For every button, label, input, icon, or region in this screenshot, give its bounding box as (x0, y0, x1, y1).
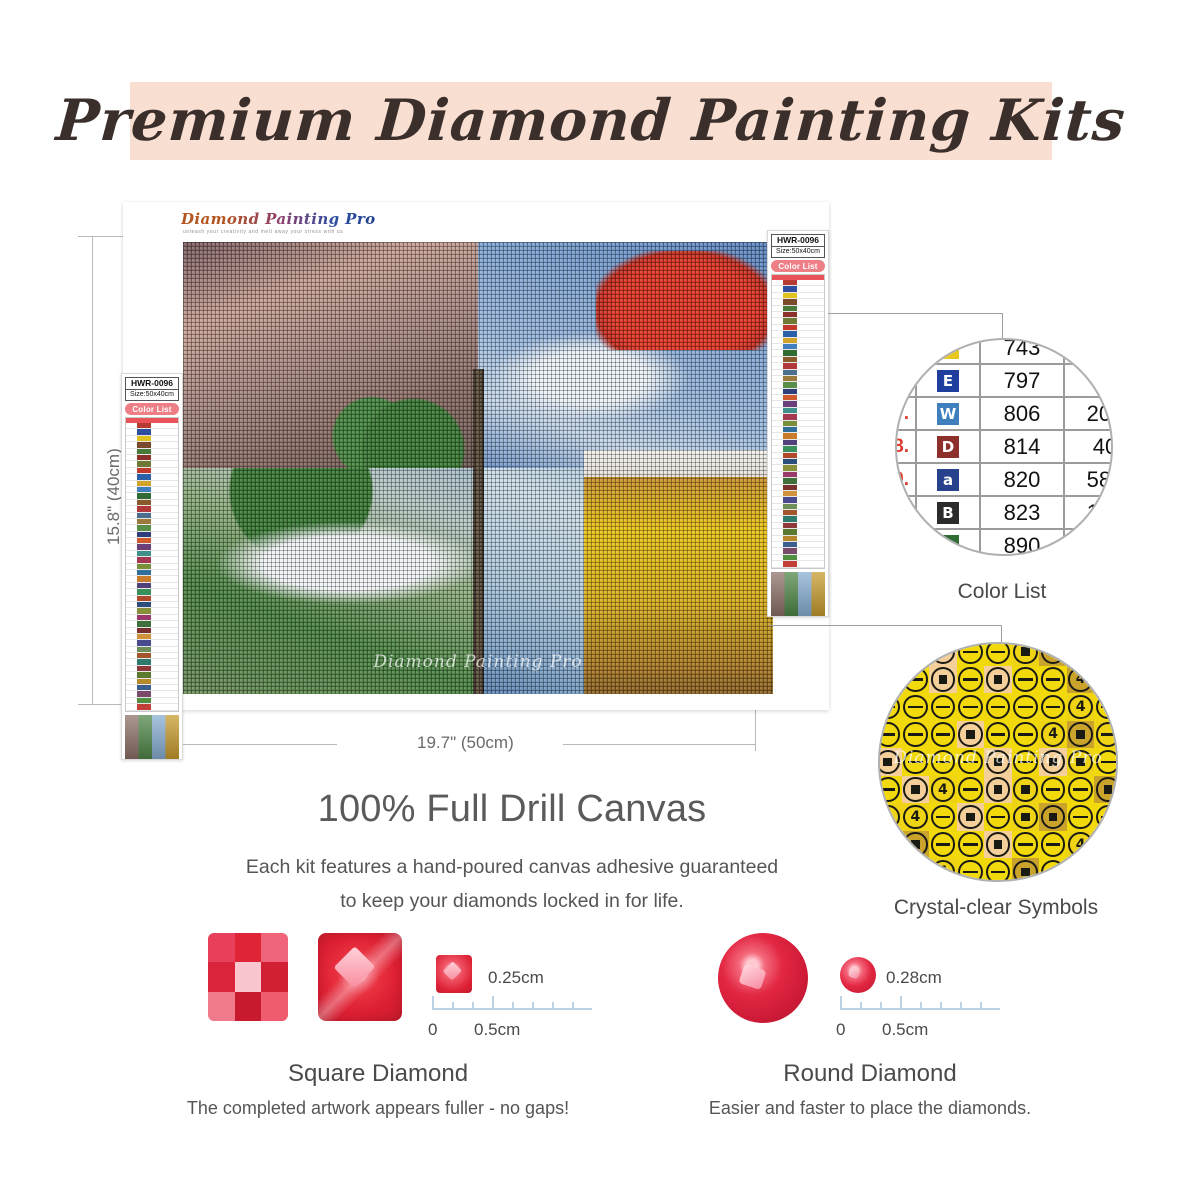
drill-symbol-cell: 4 (929, 858, 957, 882)
dash-symbol-icon (1041, 832, 1065, 856)
square-symbol-icon (986, 777, 1010, 801)
section-paragraph-line1: Each kit features a hand-poured canvas a… (102, 856, 922, 879)
color-row-qty: 586 (1065, 464, 1113, 495)
drill-symbol-cell (1094, 748, 1118, 776)
drill-symbol-cell (1012, 748, 1040, 776)
dash-symbol-icon (958, 695, 982, 719)
color-row-dmc: 823 (981, 497, 1065, 528)
square-diamond-actual-size (436, 955, 472, 993)
color-list-rows-left (125, 417, 179, 712)
dash-symbol-icon (903, 695, 927, 719)
four-symbol-icon: 4 (1041, 722, 1065, 746)
drill-grid-overlay (183, 242, 773, 694)
square-symbol-icon (958, 722, 982, 746)
drill-symbol-cell (902, 721, 930, 749)
square-symbol-icon (1013, 805, 1037, 829)
color-row-qty: 4 (1065, 365, 1113, 396)
color-list-caption: Color List (852, 580, 1152, 604)
dash-symbol-icon (986, 860, 1010, 882)
color-list-zoom-row: E7974 (895, 365, 1113, 398)
four-symbol-icon: 4 (1041, 642, 1065, 664)
square-symbol-icon (1096, 777, 1118, 801)
dash-symbol-icon (1096, 832, 1118, 856)
drill-symbol-cell (957, 748, 985, 776)
symbols-zoom-circle: 444444444 Diamond Painting Pro (878, 642, 1118, 882)
round-ruler-zero: 0 (836, 1020, 845, 1040)
drill-symbol-cell (1067, 748, 1095, 776)
pixel-artwork: Diamond Painting Pro (183, 242, 773, 694)
dash-symbol-icon (931, 722, 955, 746)
kit-size-left: Size:50x40cm (125, 390, 179, 401)
drill-symbol-cell (984, 721, 1012, 749)
drill-symbol-cell (878, 642, 902, 666)
drill-symbol-cell (878, 831, 902, 859)
color-row-qty (1065, 338, 1113, 363)
four-symbol-icon: 4 (1068, 695, 1092, 719)
color-row-symbol-icon: D (915, 431, 981, 462)
brand-logo: Diamond Painting Pro (181, 210, 376, 228)
drill-symbol-cell (957, 666, 985, 694)
square-symbol-icon (986, 750, 1010, 774)
drill-symbol-cell (957, 642, 985, 666)
drill-symbol-cell (1012, 642, 1040, 666)
four-symbol-icon: 4 (1068, 667, 1092, 691)
drill-symbol-cell (929, 666, 957, 694)
color-list-zoom-row: 7.W806204 (895, 398, 1113, 431)
drill-symbol-cell (1094, 721, 1118, 749)
drill-symbol-cell (929, 642, 957, 666)
dash-symbol-icon (903, 722, 927, 746)
square-size-label: 0.25cm (488, 968, 544, 988)
four-symbol-icon: 4 (1068, 832, 1092, 856)
color-list-panel-left: HWR-0096 Size:50x40cm Color List (121, 373, 183, 760)
drill-symbol-cell (1094, 666, 1118, 694)
drill-symbol-cell (984, 803, 1012, 831)
dash-symbol-icon (1096, 695, 1118, 719)
section-paragraph-line2: to keep your diamonds locked in for life… (102, 890, 922, 913)
drill-symbol-cell (957, 858, 985, 882)
dash-symbol-icon (986, 695, 1010, 719)
color-row-number: 20. (895, 497, 915, 528)
dash-symbol-icon (1013, 722, 1037, 746)
square-symbol-icon (1041, 750, 1065, 774)
color-list-zoom-circle: ☺743E79747.W80620418.D8144019.a82058620.… (895, 338, 1113, 556)
artwork-watermark: Diamond Painting Pro (183, 652, 773, 672)
round-diamond-ruler (840, 990, 1000, 1020)
drill-symbol-cell: 4 (1039, 721, 1067, 749)
dim-horizontal-tick-right (755, 705, 756, 751)
square-diamond-large (208, 933, 288, 1021)
color-list-row (126, 704, 178, 710)
drill-symbol-cell (1039, 748, 1067, 776)
drill-symbol-cell (957, 693, 985, 721)
dash-symbol-icon (931, 805, 955, 829)
color-row-qty: 187 (1065, 497, 1113, 528)
dash-symbol-icon (878, 832, 900, 856)
dash-symbol-icon (1096, 667, 1118, 691)
square-ruler-zero: 0 (428, 1020, 437, 1040)
dash-symbol-icon (1013, 750, 1037, 774)
dash-symbol-icon (1068, 642, 1092, 664)
dash-symbol-icon (878, 642, 900, 664)
dash-symbol-icon (903, 667, 927, 691)
square-ruler-half: 0.5cm (474, 1020, 520, 1040)
drill-symbol-cell (1067, 858, 1095, 882)
color-row-symbol-icon: E (915, 365, 981, 396)
drill-symbol-cell: 4 (1067, 666, 1095, 694)
square-symbol-icon (878, 750, 900, 774)
color-list-zoom-row: ☺743 (895, 338, 1113, 365)
drill-symbol-cell (1039, 803, 1067, 831)
page-title: Premium Diamond Painting Kits (127, 70, 1056, 170)
drill-symbol-cell (878, 748, 902, 776)
dim-vertical-line (92, 236, 93, 704)
color-row-dmc: 743 (981, 338, 1065, 363)
dash-symbol-icon (986, 722, 1010, 746)
dash-symbol-icon (1068, 777, 1092, 801)
dash-symbol-icon (903, 750, 927, 774)
round-size-label: 0.28cm (886, 968, 942, 988)
drill-symbol-cell (984, 831, 1012, 859)
kit-thumbnail-right (771, 572, 825, 616)
drill-symbol-cell (984, 748, 1012, 776)
color-row-symbol-icon: W (915, 398, 981, 429)
drill-symbol-cell (984, 693, 1012, 721)
dash-symbol-icon (958, 777, 982, 801)
drill-symbol-cell (1012, 803, 1040, 831)
square-symbol-icon (986, 667, 1010, 691)
square-diamond-facet (261, 962, 288, 991)
color-list-rows-right (771, 274, 825, 569)
drill-symbol-cell (957, 831, 985, 859)
drill-symbol-cell (984, 776, 1012, 804)
dash-symbol-icon (903, 642, 927, 664)
square-symbol-icon (1068, 722, 1092, 746)
round-diamond-actual-size (840, 957, 876, 993)
symbols-zoom-grid: 444444444 (878, 642, 1118, 882)
drill-symbol-cell (984, 666, 1012, 694)
drill-symbol-cell (1094, 803, 1118, 831)
color-row-qty: 204 (1065, 398, 1113, 429)
drill-symbol-cell (902, 642, 930, 666)
dash-symbol-icon (1041, 860, 1065, 882)
round-ruler-half: 0.5cm (882, 1020, 928, 1040)
drill-symbol-cell (929, 803, 957, 831)
dash-symbol-icon (1096, 860, 1118, 882)
kit-code-right: HWR-0096 (771, 234, 825, 247)
color-row-number: 19. (895, 464, 915, 495)
drill-symbol-cell (957, 721, 985, 749)
dash-symbol-icon (958, 832, 982, 856)
drill-symbol-cell (1012, 831, 1040, 859)
dash-symbol-icon (1013, 832, 1037, 856)
drill-symbol-cell (984, 858, 1012, 882)
drill-symbol-cell (1039, 776, 1067, 804)
drill-symbol-cell (878, 693, 902, 721)
color-list-zoom-table: ☺743E79747.W80620418.D8144019.a82058620.… (895, 338, 1113, 556)
color-row-qty: 811 (1065, 530, 1113, 556)
drill-symbol-cell (902, 666, 930, 694)
dash-symbol-icon (878, 722, 900, 746)
color-row-dmc: 806 (981, 398, 1065, 429)
square-diamond-facet (235, 992, 262, 1021)
color-list-zoom-row: 18.D81440 (895, 431, 1113, 464)
drill-symbol-cell (1039, 666, 1067, 694)
dash-symbol-icon (878, 667, 900, 691)
color-row-number: 18. (895, 431, 915, 462)
drill-symbol-cell (1067, 642, 1095, 666)
dash-symbol-icon (958, 750, 982, 774)
square-symbol-icon (1041, 805, 1065, 829)
color-row-number (895, 338, 915, 363)
square-diamond-ruler (432, 990, 592, 1020)
round-diamond-caption: Round Diamond (610, 1060, 1130, 1088)
color-list-row (772, 561, 824, 567)
dash-symbol-icon (931, 695, 955, 719)
page-root: Premium Diamond Painting Kits 15.8" (40c… (0, 0, 1200, 1200)
round-diamond-large (718, 933, 808, 1023)
drill-symbol-cell (878, 666, 902, 694)
drill-symbol-cell (1094, 776, 1118, 804)
square-diamond-faceted (318, 933, 402, 1021)
square-symbol-icon (1068, 750, 1092, 774)
square-symbol-icon (1013, 777, 1037, 801)
dash-symbol-icon (931, 750, 955, 774)
drill-symbol-cell (1094, 831, 1118, 859)
drill-symbol-cell (1012, 776, 1040, 804)
drill-symbol-cell (929, 721, 957, 749)
square-diamond-facet (235, 962, 262, 991)
dash-symbol-icon (1041, 777, 1065, 801)
dash-symbol-icon (986, 805, 1010, 829)
square-diamond-facet (208, 933, 235, 962)
color-list-panel-right: HWR-0096 Size:50x40cm Color List (767, 230, 829, 617)
canvas-board: Diamond Painting Pro unleash your creati… (123, 202, 829, 710)
color-row-dmc: 814 (981, 431, 1065, 462)
dash-symbol-icon (1096, 805, 1118, 829)
dash-symbol-icon (1096, 722, 1118, 746)
drill-symbol-cell (1094, 642, 1118, 666)
dash-symbol-icon (986, 642, 1010, 664)
drill-symbol-cell (1094, 693, 1118, 721)
dash-symbol-icon (878, 695, 900, 719)
square-diamond-facet (261, 933, 288, 962)
dim-extension-bottom (78, 704, 124, 705)
color-row-number: 7. (895, 398, 915, 429)
square-diamond-facet (208, 962, 235, 991)
square-diamond-facet (235, 933, 262, 962)
drill-symbol-cell: 4 (929, 776, 957, 804)
drill-symbol-cell (902, 693, 930, 721)
dim-extension-top (78, 236, 124, 237)
width-dimension-label: 19.7" (50cm) (417, 733, 514, 753)
square-symbol-icon (931, 667, 955, 691)
dash-symbol-icon (931, 642, 955, 664)
section-heading: 100% Full Drill Canvas (112, 788, 912, 831)
kit-code-left: HWR-0096 (125, 377, 179, 390)
drill-symbol-cell (902, 748, 930, 776)
square-diamond-facet (261, 992, 288, 1021)
dash-symbol-icon (1068, 805, 1092, 829)
dash-symbol-icon (958, 642, 982, 664)
color-row-dmc: 797 (981, 365, 1065, 396)
drill-symbol-cell (957, 776, 985, 804)
color-row-number (895, 365, 915, 396)
drill-symbol-cell (1067, 803, 1095, 831)
round-diamond-subcaption: Easier and faster to place the diamonds. (590, 1098, 1150, 1119)
four-symbol-icon: 4 (931, 777, 955, 801)
drill-symbol-cell (1067, 776, 1095, 804)
drill-symbol-cell (1039, 693, 1067, 721)
drill-symbol-cell (1039, 858, 1067, 882)
drill-symbol-cell: 4 (1067, 693, 1095, 721)
square-symbol-icon (986, 832, 1010, 856)
dash-symbol-icon (1041, 667, 1065, 691)
brand-tagline: unleash your creativity and melt away yo… (183, 229, 343, 235)
drill-symbol-cell (1012, 666, 1040, 694)
dim-horizontal-right (563, 744, 755, 745)
dash-symbol-icon (1013, 695, 1037, 719)
color-row-number: 1. (895, 530, 915, 556)
drill-symbol-cell (1012, 858, 1040, 882)
color-list-header-right: Color List (771, 260, 825, 272)
color-row-dmc: 890 (981, 530, 1065, 556)
drill-symbol-cell (929, 693, 957, 721)
color-row-symbol-icon: a (915, 464, 981, 495)
drill-symbol-cell (1012, 721, 1040, 749)
color-row-symbol-icon: G (915, 530, 981, 556)
dash-symbol-icon (1096, 750, 1118, 774)
color-row-symbol-icon: B (915, 497, 981, 528)
square-diamond-subcaption: The completed artwork appears fuller - n… (98, 1098, 658, 1119)
drill-symbol-cell (878, 721, 902, 749)
dim-horizontal-left (182, 744, 337, 745)
dash-symbol-icon (1041, 695, 1065, 719)
drill-symbol-cell (929, 748, 957, 776)
color-list-zoom-row: 20.B823187 (895, 497, 1113, 530)
kit-size-right: Size:50x40cm (771, 247, 825, 258)
color-list-zoom-row: 19.a820586 (895, 464, 1113, 497)
dash-symbol-icon (1068, 860, 1092, 882)
drill-symbol-cell (1012, 693, 1040, 721)
color-list-header-left: Color List (125, 403, 179, 415)
four-symbol-icon: 4 (931, 860, 955, 882)
dash-symbol-icon (958, 667, 982, 691)
dash-symbol-icon (958, 860, 982, 882)
square-diamond-caption: Square Diamond (118, 1060, 638, 1088)
drill-symbol-cell (957, 803, 985, 831)
drill-symbol-cell (902, 831, 930, 859)
square-symbol-icon (1013, 642, 1037, 664)
dash-symbol-icon (1096, 642, 1118, 664)
drill-symbol-cell (1067, 721, 1095, 749)
color-row-symbol-icon: ☺ (915, 338, 981, 363)
dash-symbol-icon (1013, 667, 1037, 691)
square-symbol-icon (903, 832, 927, 856)
dash-symbol-icon (931, 832, 955, 856)
drill-symbol-cell: 4 (1039, 642, 1067, 666)
square-symbol-icon (958, 805, 982, 829)
drill-symbol-cell: 4 (1067, 831, 1095, 859)
drill-symbol-cell (1039, 831, 1067, 859)
color-row-dmc: 820 (981, 464, 1065, 495)
color-row-qty: 40 (1065, 431, 1113, 462)
drill-symbol-cell (984, 642, 1012, 666)
square-diamond-facet (208, 992, 235, 1021)
drill-symbol-cell (929, 831, 957, 859)
square-symbol-icon (1013, 860, 1037, 882)
color-list-zoom-row: 1.G890811 (895, 530, 1113, 556)
drill-symbol-cell (1094, 858, 1118, 882)
kit-thumbnail-left (125, 715, 179, 759)
